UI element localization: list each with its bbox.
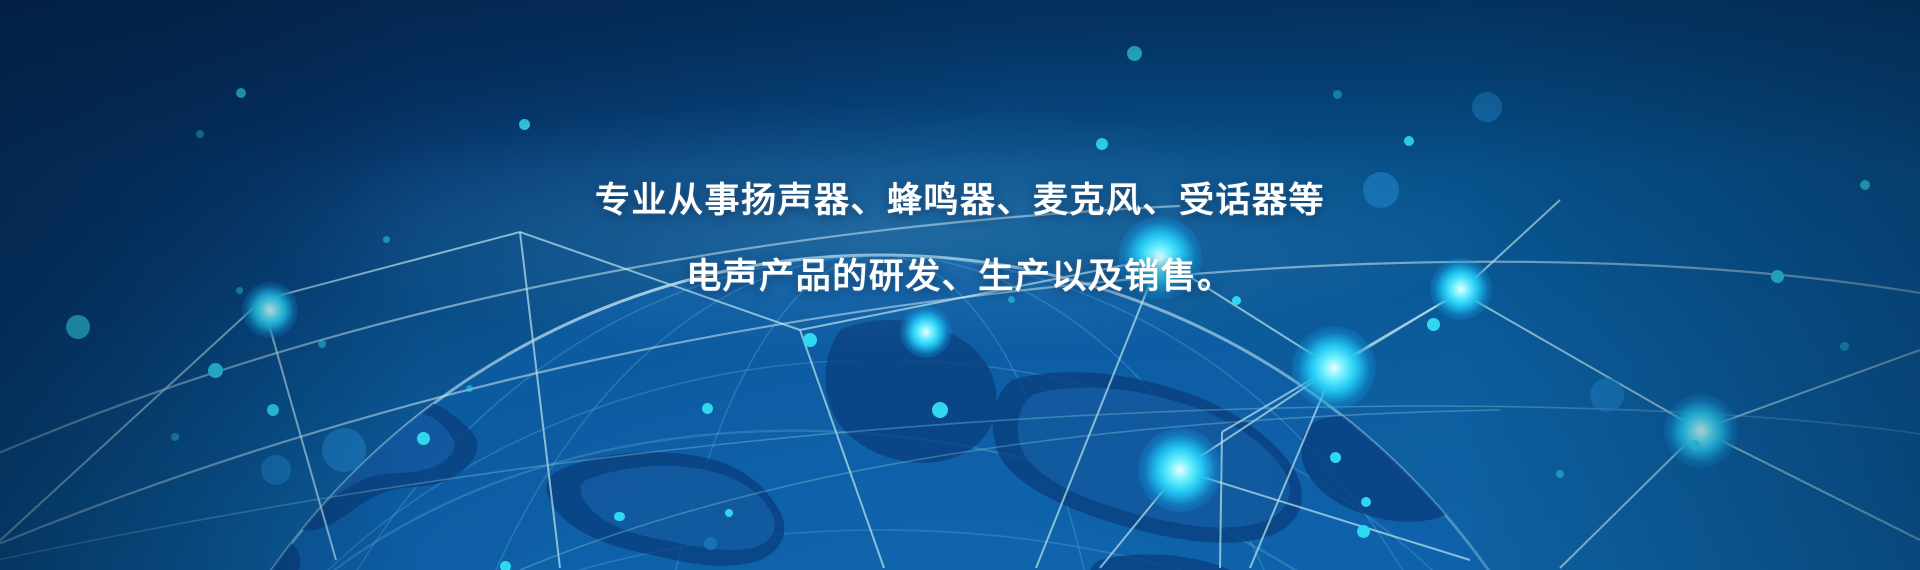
accent-dot [267, 404, 279, 416]
accent-dot [702, 403, 713, 414]
headline-line-1: 专业从事扬声器、蜂鸣器、麦克风、受话器等 [0, 163, 1920, 239]
glowing-network-node [900, 306, 952, 358]
accent-dot [236, 88, 246, 98]
accent-dot [500, 561, 511, 570]
accent-dot [1690, 440, 1700, 450]
accent-dot [1127, 46, 1142, 61]
glowing-network-node [1118, 216, 1202, 300]
glowing-network-node [1664, 394, 1738, 468]
accent-dot [1363, 172, 1399, 208]
hero-banner: 专业从事扬声器、蜂鸣器、麦克风、受话器等 电声产品的研发、生产以及销售。 [0, 0, 1920, 570]
accent-dot [322, 428, 366, 472]
accent-dot [1333, 90, 1342, 99]
accent-dot [66, 315, 90, 339]
accent-dot [1357, 525, 1370, 538]
accent-dot [1840, 342, 1849, 351]
accent-dot [614, 512, 623, 521]
accent-dot [1472, 92, 1502, 122]
glowing-network-node [242, 282, 298, 338]
light-sheen [0, 0, 1920, 570]
accent-dot [704, 537, 717, 550]
accent-dot [1427, 318, 1440, 331]
globe-graphic [0, 0, 1920, 570]
accent-dot [417, 432, 430, 445]
accent-dot [196, 130, 204, 138]
accent-dot [261, 455, 291, 485]
accent-dot [1008, 296, 1015, 303]
accent-dot [1361, 497, 1371, 507]
accent-dot [318, 340, 326, 348]
accent-dot [466, 385, 473, 392]
accent-dot [208, 363, 223, 378]
accent-dot [1232, 296, 1241, 305]
accent-dot [803, 333, 817, 347]
accent-dot [1330, 452, 1341, 463]
glowing-network-node [1430, 258, 1492, 320]
accent-dot [1096, 138, 1108, 150]
accent-dot [519, 119, 530, 130]
accent-dot [1590, 378, 1624, 412]
accent-dot [383, 236, 390, 243]
accent-dot [932, 402, 948, 418]
accent-dot [1860, 180, 1870, 190]
accent-dot [236, 287, 243, 294]
accent-dot [1404, 136, 1414, 146]
glowing-network-node [1292, 326, 1376, 410]
edge-vignette [0, 0, 1920, 570]
glowing-network-node [1138, 428, 1222, 512]
accent-dot [725, 509, 733, 517]
accent-dot [1556, 470, 1564, 478]
accent-dot [171, 433, 179, 441]
network-lines [0, 0, 1920, 570]
accent-dot [1771, 270, 1784, 283]
